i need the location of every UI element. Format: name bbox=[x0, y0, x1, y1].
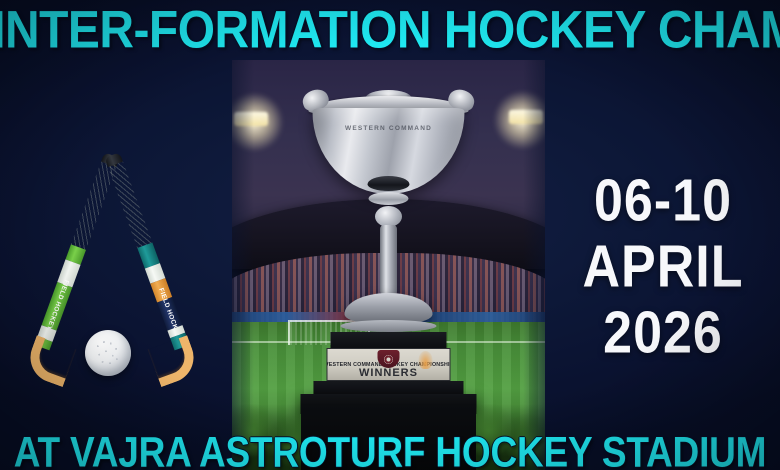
trophy-stem-top bbox=[369, 192, 409, 205]
stick-band-green-2: FIELD HOCKEY bbox=[42, 282, 73, 331]
hockey-ball bbox=[85, 330, 131, 376]
trophy-collar bbox=[368, 176, 410, 191]
trophy-foot-ring bbox=[341, 320, 437, 332]
stick-grip bbox=[108, 162, 152, 248]
event-poster: WESTERN COMMAND WESTERN COMMAND HOCKEY C… bbox=[0, 0, 780, 470]
event-date-year: 2026 bbox=[568, 295, 758, 370]
trophy-engraving: WESTERN COMMAND bbox=[313, 125, 465, 132]
poster-title: INTER-FORMATION HOCKEY CHAMPIONSHIP bbox=[0, 0, 780, 61]
venue-text: AT VAJRA ASTROTURF HOCKEY STADIUM bbox=[0, 428, 780, 470]
hockey-stick-right: FIELD HOCKEY bbox=[104, 152, 189, 350]
stick-head-hook bbox=[148, 335, 201, 387]
plaque-flame-icon bbox=[419, 351, 433, 369]
stick-brand-label: FIELD HOCKEY bbox=[45, 279, 70, 331]
stick-head-hook bbox=[23, 335, 76, 387]
stick-grip bbox=[71, 162, 116, 250]
trophy-foot bbox=[345, 293, 433, 323]
trophy-photo: WESTERN COMMAND WESTERN COMMAND HOCKEY C… bbox=[232, 60, 545, 470]
hockey-stick-left: FIELD HOCKEY bbox=[34, 152, 119, 350]
trophy-stem bbox=[380, 225, 397, 295]
event-date-month: APRIL bbox=[568, 229, 758, 304]
plaque-subtitle: WINNERS bbox=[359, 368, 418, 379]
event-date-block: 06-10 APRIL 2026 bbox=[568, 168, 758, 366]
trophy-base-top bbox=[331, 332, 447, 349]
trophy-stem-knob bbox=[375, 206, 402, 227]
trophy-plaque: WESTERN COMMAND HOCKEY CHAMPIONSHIP WINN… bbox=[327, 348, 451, 381]
event-date-days: 06-10 bbox=[568, 163, 758, 238]
